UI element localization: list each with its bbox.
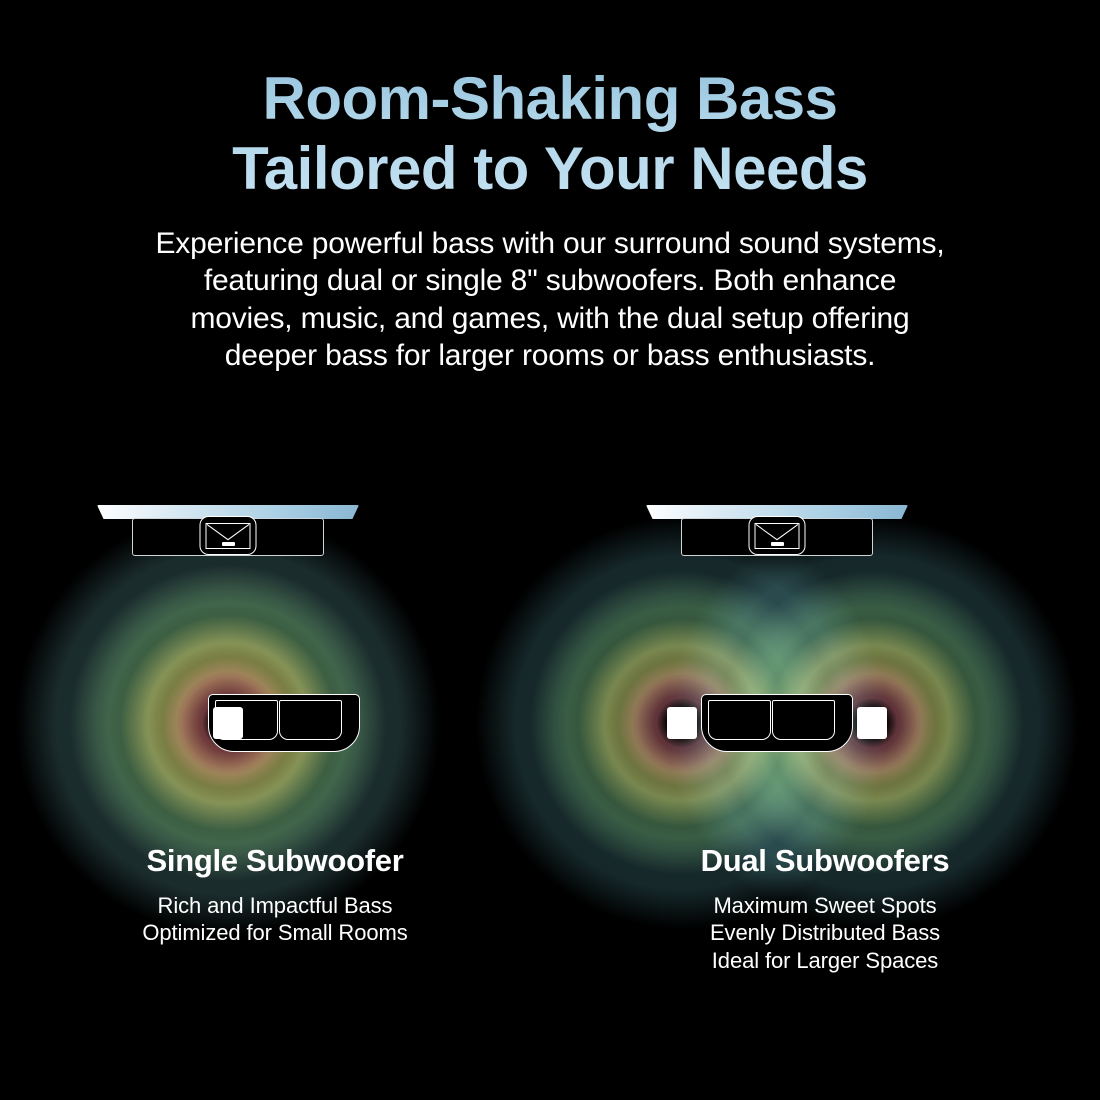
comparison-panels: Single Subwoofer Rich and Impactful Bass… xyxy=(0,440,1100,1060)
center-channel-speaker-icon xyxy=(200,516,257,555)
sofa-cushion-left xyxy=(708,700,771,740)
media-console-single xyxy=(132,518,324,556)
speaker-port xyxy=(222,542,235,547)
caption-line: Ideal for Larger Spaces xyxy=(550,947,1100,974)
caption-single: Single Subwoofer Rich and Impactful Bass… xyxy=(0,843,550,947)
infographic-canvas: Room-Shaking Bass Tailored to Your Needs… xyxy=(0,0,1100,1100)
speaker-grille xyxy=(206,523,251,549)
header-block: Room-Shaking Bass Tailored to Your Needs… xyxy=(0,0,1100,374)
speaker-port xyxy=(771,542,784,547)
speaker-grille xyxy=(755,523,800,549)
caption-title-dual: Dual Subwoofers xyxy=(550,843,1100,879)
subwoofer-icon-1 xyxy=(213,707,243,739)
caption-line: Optimized for Small Rooms xyxy=(0,919,550,946)
sofa-cushion-right xyxy=(772,700,835,740)
caption-line: Maximum Sweet Spots xyxy=(550,892,1100,919)
caption-title-single: Single Subwoofer xyxy=(0,843,550,879)
center-channel-speaker-icon xyxy=(749,516,806,555)
subwoofer-icon-2 xyxy=(857,707,887,739)
tv-assembly-dual xyxy=(646,505,908,519)
tv-assembly-single xyxy=(97,505,359,519)
sofa-icon-dual xyxy=(701,694,853,752)
subwoofer-icon-1 xyxy=(667,707,697,739)
subtitle-line-3: movies, music, and games, with the dual … xyxy=(190,302,909,335)
caption-dual: Dual Subwoofers Maximum Sweet Spots Even… xyxy=(550,843,1100,974)
sofa-cushion-right xyxy=(279,700,342,740)
page-title: Room-Shaking Bass Tailored to Your Needs xyxy=(0,64,1100,203)
subtitle-line-2: featuring dual or single 8" subwoofers. … xyxy=(204,264,896,297)
subtitle-line-1: Experience powerful bass with our surrou… xyxy=(156,227,945,260)
page-subtitle: Experience powerful bass with our surrou… xyxy=(80,225,1020,374)
caption-line: Rich and Impactful Bass xyxy=(0,892,550,919)
panel-dual-subwoofers: Dual Subwoofers Maximum Sweet Spots Even… xyxy=(550,440,1100,1060)
caption-lines-dual: Maximum Sweet Spots Evenly Distributed B… xyxy=(550,892,1100,974)
subtitle-line-4: deeper bass for larger rooms or bass ent… xyxy=(225,339,876,372)
page-title-line-1: Room-Shaking Bass xyxy=(263,65,838,132)
media-console-dual xyxy=(681,518,873,556)
caption-lines-single: Rich and Impactful Bass Optimized for Sm… xyxy=(0,892,550,947)
panel-single-subwoofer: Single Subwoofer Rich and Impactful Bass… xyxy=(0,440,550,1060)
caption-line: Evenly Distributed Bass xyxy=(550,919,1100,946)
page-title-line-2: Tailored to Your Needs xyxy=(232,135,868,202)
